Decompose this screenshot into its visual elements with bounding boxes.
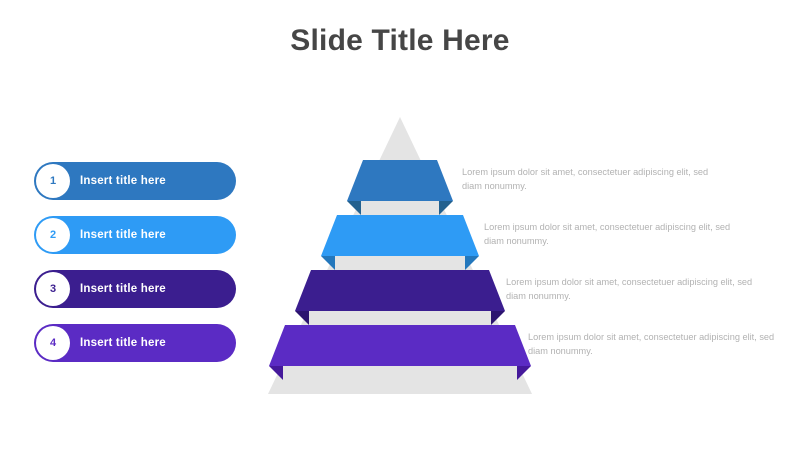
list-item[interactable]: 4 Insert title here <box>34 324 236 362</box>
pill-number-1: 1 <box>50 175 56 187</box>
pill-number-4: 4 <box>50 337 56 349</box>
band-2-fold-left <box>321 256 335 270</box>
level-description-3: Lorem ipsum dolor sit amet, consectetuer… <box>506 276 756 303</box>
page-title: Slide Title Here <box>0 22 800 60</box>
slide-canvas: Slide Title Here 1 Insert title here 2 I… <box>0 0 800 450</box>
pill-label-2: Insert title here <box>80 216 166 254</box>
pill-number-badge-4: 4 <box>36 326 70 360</box>
band-4-shape <box>269 325 531 366</box>
pill-number-badge-2: 2 <box>36 218 70 252</box>
band-3-shape <box>295 270 505 311</box>
band-1-fold-left <box>347 201 361 215</box>
pill-label-3: Insert title here <box>80 270 166 308</box>
pill-number-3: 3 <box>50 283 56 295</box>
pill-label-4: Insert title here <box>80 324 166 362</box>
list-item[interactable]: 1 Insert title here <box>34 162 236 200</box>
band-1-shape <box>347 160 453 201</box>
pill-number-badge-1: 1 <box>36 164 70 198</box>
list-item[interactable]: 2 Insert title here <box>34 216 236 254</box>
pyramid-diagram <box>250 105 550 405</box>
level-description-2: Lorem ipsum dolor sit amet, consectetuer… <box>484 221 734 248</box>
pyramid-svg <box>250 105 550 405</box>
level-description-4: Lorem ipsum dolor sit amet, consectetuer… <box>528 331 778 358</box>
pill-label-1: Insert title here <box>80 162 166 200</box>
level-description-1: Lorem ipsum dolor sit amet, consectetuer… <box>462 166 712 193</box>
pill-list: 1 Insert title here 2 Insert title here … <box>34 162 236 378</box>
list-item[interactable]: 3 Insert title here <box>34 270 236 308</box>
band-2-fold-right <box>465 256 479 270</box>
band-1-fold-right <box>439 201 453 215</box>
pill-number-2: 2 <box>50 229 56 241</box>
pill-number-badge-3: 3 <box>36 272 70 306</box>
band-2-shape <box>321 215 479 256</box>
